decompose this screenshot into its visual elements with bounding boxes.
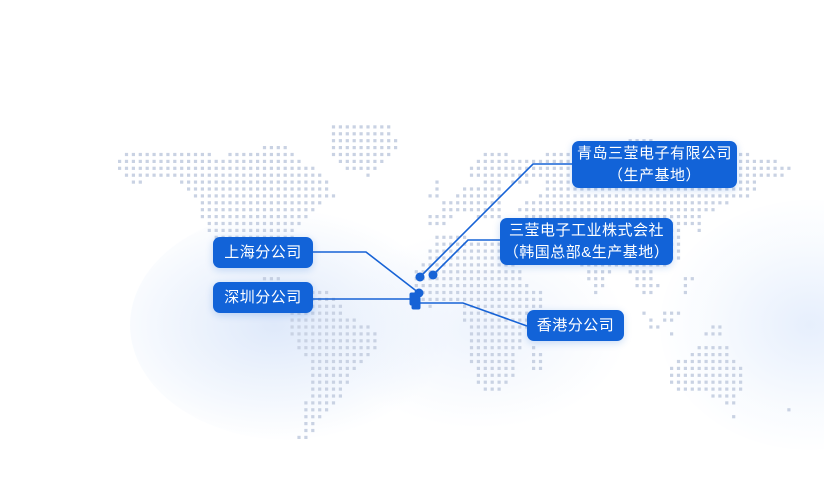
label-box-korea-hq[interactable]: 三莹电子工业株式会社 （韩国总部&生产基地） xyxy=(500,218,673,265)
global-distribution-map: 青岛三莹电子有限公司 （生产基地） 三莹电子工业株式会社 （韩国总部&生产基地）… xyxy=(0,0,824,480)
connector-lines xyxy=(0,0,824,480)
leader-line-shanghai xyxy=(313,252,419,293)
label-line: 三莹电子工业株式会社 xyxy=(509,220,664,242)
label-line: 深圳分公司 xyxy=(224,287,302,309)
label-box-hongkong[interactable]: 香港分公司 xyxy=(527,310,624,341)
label-box-shenzhen[interactable]: 深圳分公司 xyxy=(213,282,313,313)
label-box-qingdao[interactable]: 青岛三莹电子有限公司 （生产基地） xyxy=(572,141,737,188)
label-line: （韩国总部&生产基地） xyxy=(504,242,670,264)
label-line: 上海分公司 xyxy=(224,242,302,264)
label-line: （生产基地） xyxy=(608,165,701,187)
leader-line-hongkong xyxy=(416,303,527,326)
label-box-shanghai[interactable]: 上海分公司 xyxy=(213,237,313,268)
marker-korea[interactable] xyxy=(429,271,438,280)
marker-hongkong[interactable] xyxy=(412,297,421,310)
leader-line-korea xyxy=(433,240,500,275)
label-line: 青岛三莹电子有限公司 xyxy=(577,143,732,165)
label-line: 香港分公司 xyxy=(537,315,615,337)
marker-qingdao[interactable] xyxy=(416,273,425,282)
